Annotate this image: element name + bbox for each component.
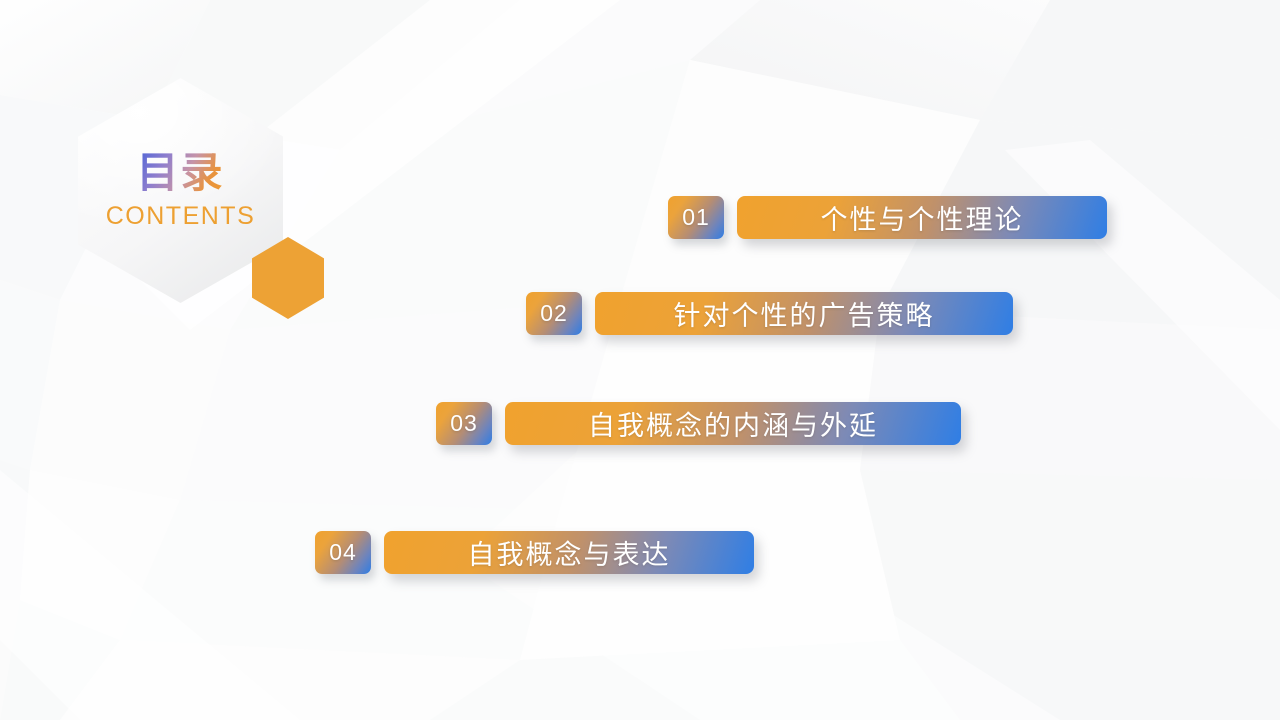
contents-item-02[interactable]: 02 针对个性的广告策略 <box>526 292 1013 335</box>
spacer <box>582 313 595 314</box>
item-number-badge-02[interactable]: 02 <box>526 292 582 335</box>
item-number-badge-01[interactable]: 01 <box>668 196 724 239</box>
contents-list: 01 个性与个性理论 02 针对个性的广告策略 03 自我概念的内涵与外延 04… <box>0 0 1280 720</box>
spacer <box>724 217 737 218</box>
spacer <box>371 552 384 553</box>
item-label-bar-01[interactable]: 个性与个性理论 <box>737 196 1107 239</box>
item-label-bar-03[interactable]: 自我概念的内涵与外延 <box>505 402 961 445</box>
contents-item-01[interactable]: 01 个性与个性理论 <box>668 196 1107 239</box>
slide-root: 目录 CONTENTS 01 个性与个性理论 02 针对个性的广告策略 03 自… <box>0 0 1280 720</box>
item-number-badge-03[interactable]: 03 <box>436 402 492 445</box>
item-label-bar-02[interactable]: 针对个性的广告策略 <box>595 292 1013 335</box>
item-number-badge-04[interactable]: 04 <box>315 531 371 574</box>
contents-item-04[interactable]: 04 自我概念与表达 <box>315 531 754 574</box>
item-label-bar-04[interactable]: 自我概念与表达 <box>384 531 754 574</box>
contents-item-03[interactable]: 03 自我概念的内涵与外延 <box>436 402 961 445</box>
spacer <box>492 423 505 424</box>
